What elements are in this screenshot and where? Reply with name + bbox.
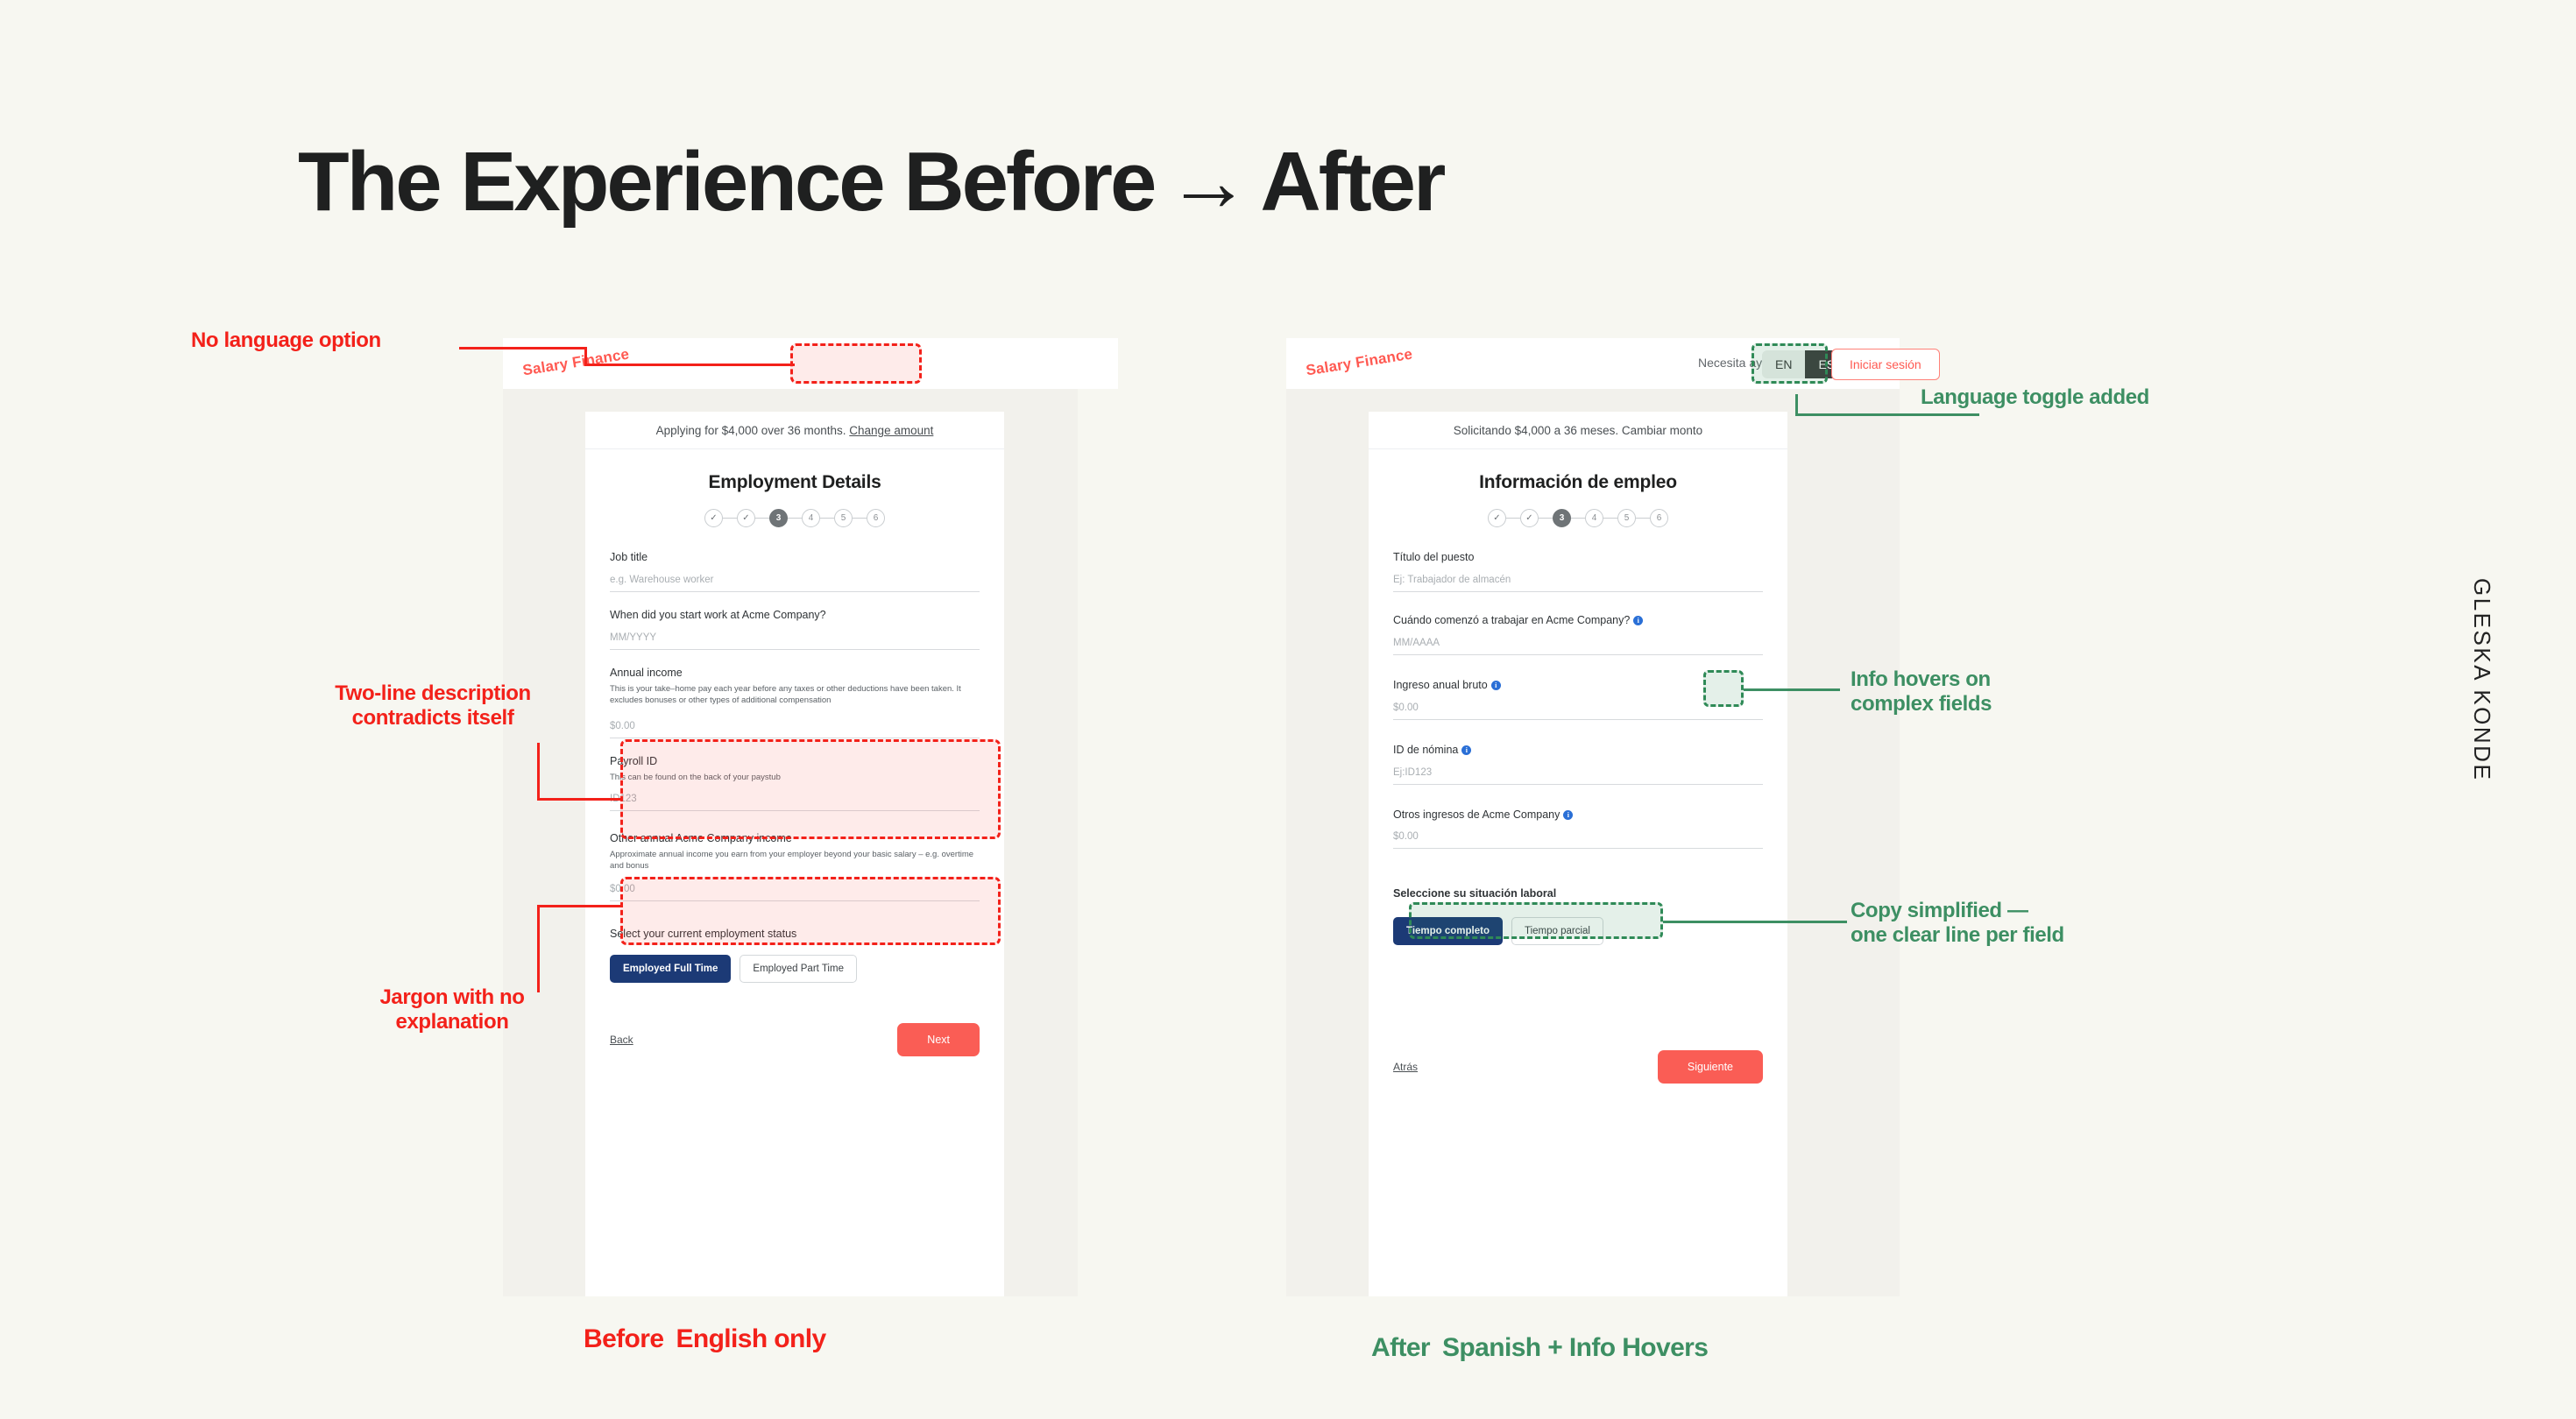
- field-label: Payroll ID: [610, 754, 980, 769]
- annotation-line-2: complex fields: [1851, 692, 1992, 717]
- field-other-income: Other annual Acme Company income Approxi…: [610, 831, 980, 901]
- step-3[interactable]: 3: [769, 509, 788, 527]
- step-5[interactable]: 5: [834, 509, 853, 527]
- before-field-list: Job title e.g. Warehouse worker When did…: [585, 550, 1004, 983]
- info-icon[interactable]: i: [1633, 616, 1643, 625]
- after-caption-text: Spanish + Info Hovers: [1442, 1333, 1708, 1362]
- field-label-text: Otros ingresos de Acme Company: [1393, 808, 1560, 821]
- field-start-date: When did you start work at Acme Company?…: [610, 608, 980, 650]
- leader-line-language-toggle-h: [1795, 413, 1979, 416]
- step-1[interactable]: ✓: [1488, 509, 1506, 527]
- leader-line-jargon-v: [537, 905, 540, 992]
- back-link[interactable]: Atrás: [1393, 1061, 1418, 1073]
- after-form-card: Solicitando $4,000 a 36 meses. Cambiar m…: [1369, 412, 1787, 1296]
- titulo-puesto-input[interactable]: Ej: Trabajador de almacén: [1393, 565, 1763, 592]
- field-label-text: Cuándo comenzó a trabajar en Acme Compan…: [1393, 614, 1630, 626]
- id-nomina-input[interactable]: Ej:ID123: [1393, 758, 1763, 785]
- step-connector: [1506, 518, 1520, 519]
- after-loan-banner: Solicitando $4,000 a 36 meses. Cambiar m…: [1369, 412, 1787, 449]
- field-payroll-id: Payroll ID This can be found on the back…: [610, 754, 980, 811]
- field-description: This can be found on the back of your pa…: [610, 772, 980, 784]
- before-form-card: Applying for $4,000 over 36 months. Chan…: [585, 412, 1004, 1296]
- title-before-text: The Experience Before: [298, 135, 1154, 229]
- before-card-footer: Back Next: [585, 1023, 1004, 1056]
- step-connector: [788, 518, 802, 519]
- field-fecha-inicio: Cuándo comenzó a trabajar en Acme Compan…: [1393, 613, 1763, 655]
- leader-line-no-language-v: [584, 347, 587, 365]
- step-2[interactable]: ✓: [737, 509, 755, 527]
- choice-full-time[interactable]: Employed Full Time: [610, 955, 731, 983]
- arrow-right-icon: →: [1154, 140, 1260, 224]
- field-job-title: Job title e.g. Warehouse worker: [610, 550, 980, 592]
- annotation-line-1: Two-line description: [301, 681, 564, 706]
- slide-canvas: The Experience Before→After GLESKA KONDE…: [0, 0, 2576, 1419]
- field-label: Otros ingresos de Acme Companyi: [1393, 808, 1763, 822]
- annotation-language-toggle-added: Language toggle added: [1921, 385, 2149, 410]
- annotation-line-1: Copy simplified —: [1851, 899, 2064, 923]
- step-4[interactable]: 4: [802, 509, 820, 527]
- leader-line-no-language-h2: [584, 364, 795, 366]
- field-label: When did you start work at Acme Company?: [610, 608, 980, 623]
- step-4[interactable]: 4: [1585, 509, 1603, 527]
- step-connector: [1539, 518, 1553, 519]
- annotation-two-line-description: Two-line description contradicts itself: [301, 681, 564, 731]
- step-connector: [1603, 518, 1617, 519]
- next-button[interactable]: Next: [897, 1023, 980, 1056]
- info-icon[interactable]: i: [1461, 745, 1471, 755]
- after-caption: AfterSpanish + Info Hovers: [1371, 1333, 1708, 1363]
- fecha-inicio-input[interactable]: MM/AAAA: [1393, 628, 1763, 655]
- change-amount-link[interactable]: Change amount: [849, 424, 933, 437]
- leader-line-no-language-h1: [459, 347, 586, 349]
- step-connector: [1636, 518, 1650, 519]
- field-label: Título del puesto: [1393, 550, 1763, 565]
- annotation-line-1: Info hovers on: [1851, 667, 1992, 692]
- field-label-text: ID de nómina: [1393, 744, 1458, 756]
- annotation-line-1: Jargon with no: [338, 985, 566, 1010]
- ingreso-bruto-input[interactable]: $0.00: [1393, 693, 1763, 720]
- choice-tiempo-completo[interactable]: Tiempo completo: [1393, 917, 1503, 945]
- step-3[interactable]: 3: [1553, 509, 1571, 527]
- field-otros-ingresos: Otros ingresos de Acme Companyi $0.00: [1393, 808, 1763, 850]
- leader-line-two-line-h: [537, 798, 621, 801]
- back-link[interactable]: Back: [610, 1034, 633, 1046]
- info-icon[interactable]: i: [1563, 810, 1573, 820]
- before-loan-banner-text: Applying for $4,000 over 36 months.: [656, 424, 846, 437]
- step-5[interactable]: 5: [1617, 509, 1636, 527]
- field-ingreso-bruto: Ingreso anual brutoi $0.00: [1393, 678, 1763, 720]
- field-label: Annual income: [610, 666, 980, 681]
- before-form-title: Employment Details: [585, 472, 1004, 493]
- annotation-line-2: contradicts itself: [301, 706, 564, 731]
- annotation-line-2: one clear line per field: [1851, 923, 2064, 948]
- after-field-list: Título del puesto Ej: Trabajador de alma…: [1369, 550, 1787, 945]
- step-connector: [755, 518, 769, 519]
- other-income-input[interactable]: $0.00: [610, 872, 980, 901]
- before-caption-kicker: Before: [584, 1324, 663, 1353]
- sign-in-button[interactable]: Iniciar sesión: [1831, 349, 1940, 380]
- start-date-input[interactable]: MM/YYYY: [610, 623, 980, 650]
- step-6[interactable]: 6: [1650, 509, 1668, 527]
- salary-finance-logo: Salary Finance: [1305, 346, 1413, 380]
- step-connector: [853, 518, 867, 519]
- leader-line-two-line-v: [537, 743, 540, 800]
- title-after-text: After: [1260, 135, 1443, 229]
- step-connector: [723, 518, 737, 519]
- language-option-en[interactable]: EN: [1762, 350, 1805, 378]
- job-title-input[interactable]: e.g. Warehouse worker: [610, 565, 980, 592]
- field-label-text: Ingreso anual bruto: [1393, 679, 1488, 691]
- choice-tiempo-parcial[interactable]: Tiempo parcial: [1511, 917, 1603, 945]
- step-connector: [820, 518, 834, 519]
- salary-finance-logo: Salary Finance: [521, 346, 630, 380]
- after-caption-kicker: After: [1371, 1333, 1430, 1362]
- after-loan-banner-text: Solicitando $4,000 a 36 meses. Cambiar m…: [1454, 424, 1702, 437]
- field-label: ID de nóminai: [1393, 743, 1763, 758]
- annotation-copy-simplified: Copy simplified — one clear line per fie…: [1851, 899, 2064, 949]
- vertical-brand-label: GLESKA KONDE: [2468, 578, 2495, 781]
- before-caption-text: English only: [676, 1324, 825, 1353]
- field-label: Job title: [610, 550, 980, 565]
- annotation-jargon: Jargon with no explanation: [338, 985, 566, 1035]
- step-6[interactable]: 6: [867, 509, 885, 527]
- next-button[interactable]: Siguiente: [1658, 1050, 1763, 1084]
- annotation-no-language-option: No language option: [191, 328, 381, 353]
- field-description: This is your take–home pay each year bef…: [610, 683, 980, 708]
- field-id-nomina: ID de nóminai Ej:ID123: [1393, 743, 1763, 785]
- otros-ingresos-input[interactable]: $0.00: [1393, 822, 1763, 849]
- annotation-text: Language toggle added: [1921, 385, 2149, 409]
- choice-part-time[interactable]: Employed Part Time: [740, 955, 857, 983]
- field-description: Approximate annual income you earn from …: [610, 849, 980, 873]
- field-label: Ingreso anual brutoi: [1393, 678, 1763, 693]
- annotation-line-2: explanation: [338, 1010, 566, 1034]
- employment-status-label: Select your current employment status: [610, 928, 980, 940]
- annotation-text: No language option: [191, 328, 381, 352]
- leader-line-copy-simplified: [1663, 921, 1847, 923]
- field-label: Other annual Acme Company income: [610, 831, 980, 846]
- situacion-laboral-label: Seleccione su situación laboral: [1393, 887, 1763, 900]
- after-topbar: Salary Finance Necesita ayuda? EN ES Ini…: [1286, 338, 1900, 389]
- leader-line-language-toggle-v: [1795, 394, 1798, 415]
- annual-income-input[interactable]: $0.00: [610, 707, 980, 738]
- annotation-info-hovers: Info hovers on complex fields: [1851, 667, 1992, 717]
- employment-status-choices: Employed Full Time Employed Part Time: [610, 955, 980, 983]
- after-form-title: Información de empleo: [1369, 472, 1787, 493]
- before-caption: BeforeEnglish only: [584, 1324, 826, 1354]
- leader-line-jargon-h: [537, 905, 621, 907]
- step-1[interactable]: ✓: [704, 509, 723, 527]
- info-icon[interactable]: i: [1491, 681, 1501, 690]
- before-loan-banner: Applying for $4,000 over 36 months. Chan…: [585, 412, 1004, 449]
- field-titulo-puesto: Título del puesto Ej: Trabajador de alma…: [1393, 550, 1763, 592]
- step-2[interactable]: ✓: [1520, 509, 1539, 527]
- payroll-id-input[interactable]: ID123: [610, 784, 980, 811]
- field-annual-income: Annual income This is your take–home pay…: [610, 666, 980, 738]
- before-stepper: ✓ ✓ 3 4 5 6: [585, 509, 1004, 527]
- after-stepper: ✓ ✓ 3 4 5 6: [1369, 509, 1787, 527]
- field-label: Cuándo comenzó a trabajar en Acme Compan…: [1393, 613, 1763, 628]
- leader-line-info-hovers: [1744, 688, 1840, 691]
- page-title: The Experience Before→After: [298, 140, 1443, 224]
- step-connector: [1571, 518, 1585, 519]
- after-card-footer: Atrás Siguiente: [1369, 1050, 1787, 1084]
